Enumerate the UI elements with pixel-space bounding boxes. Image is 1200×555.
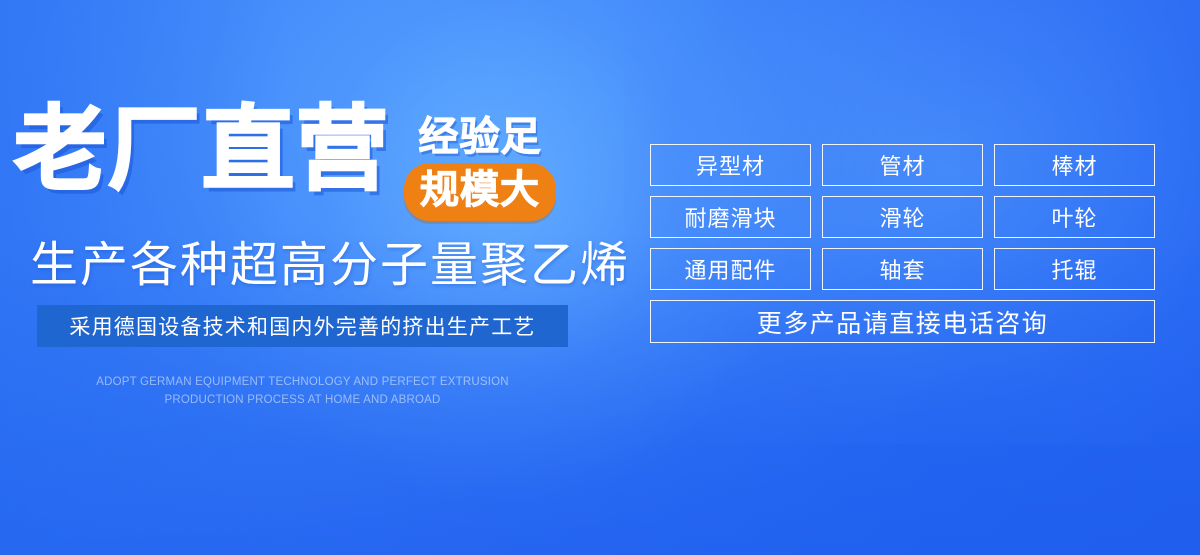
product-cell-profile-material[interactable]: 异型材: [650, 144, 811, 186]
product-cell-wear-resistant-slider[interactable]: 耐磨滑块: [650, 196, 811, 238]
product-cell-contact-for-more[interactable]: 更多产品请直接电话咨询: [650, 300, 1155, 343]
product-grid-row: 通用配件 轴套 托辊: [650, 248, 1155, 290]
badge-scale: 规模大: [404, 163, 556, 221]
badge-experience: 经验足: [419, 116, 542, 158]
product-grid-row: 异型材 管材 棒材: [650, 144, 1155, 186]
product-cell-pipe[interactable]: 管材: [822, 144, 983, 186]
banner-subheadline: 生产各种超高分子量聚乙烯: [30, 240, 630, 293]
product-cell-idler-roller[interactable]: 托辊: [994, 248, 1155, 290]
product-cell-bushing[interactable]: 轴套: [822, 248, 983, 290]
product-cell-general-parts[interactable]: 通用配件: [650, 248, 811, 290]
english-subtitle-line-2: PRODUCTION PROCESS AT HOME AND ABROAD: [37, 392, 568, 410]
tagline-bar: 采用德国设备技术和国内外完善的挤出生产工艺: [37, 305, 568, 347]
english-subtitle-block: ADOPT GERMAN EQUIPMENT TECHNOLOGY AND PE…: [37, 374, 568, 410]
tagline-text: 采用德国设备技术和国内外完善的挤出生产工艺: [69, 311, 535, 341]
product-cell-rod[interactable]: 棒材: [994, 144, 1155, 186]
headline-group: 老厂直营 经验足 规模大: [14, 104, 556, 221]
product-grid-row: 耐磨滑块 滑轮 叶轮: [650, 196, 1155, 238]
product-cell-impeller[interactable]: 叶轮: [994, 196, 1155, 238]
english-subtitle-line-1: ADOPT GERMAN EQUIPMENT TECHNOLOGY AND PE…: [37, 374, 568, 392]
left-content-column: 老厂直营 经验足 规模大 生产各种超高分子量聚乙烯 采用德国设备技术和国内外完善…: [0, 0, 620, 555]
promotional-banner: 老厂直营 经验足 规模大 生产各种超高分子量聚乙烯 采用德国设备技术和国内外完善…: [0, 0, 1200, 555]
banner-headline: 老厂直营: [14, 104, 390, 196]
badge-group: 经验足 规模大: [404, 116, 556, 221]
product-cell-pulley[interactable]: 滑轮: [822, 196, 983, 238]
product-category-grid: 异型材 管材 棒材 耐磨滑块 滑轮 叶轮 通用配件 轴套 托辊 更多产品请直接电…: [650, 144, 1155, 343]
